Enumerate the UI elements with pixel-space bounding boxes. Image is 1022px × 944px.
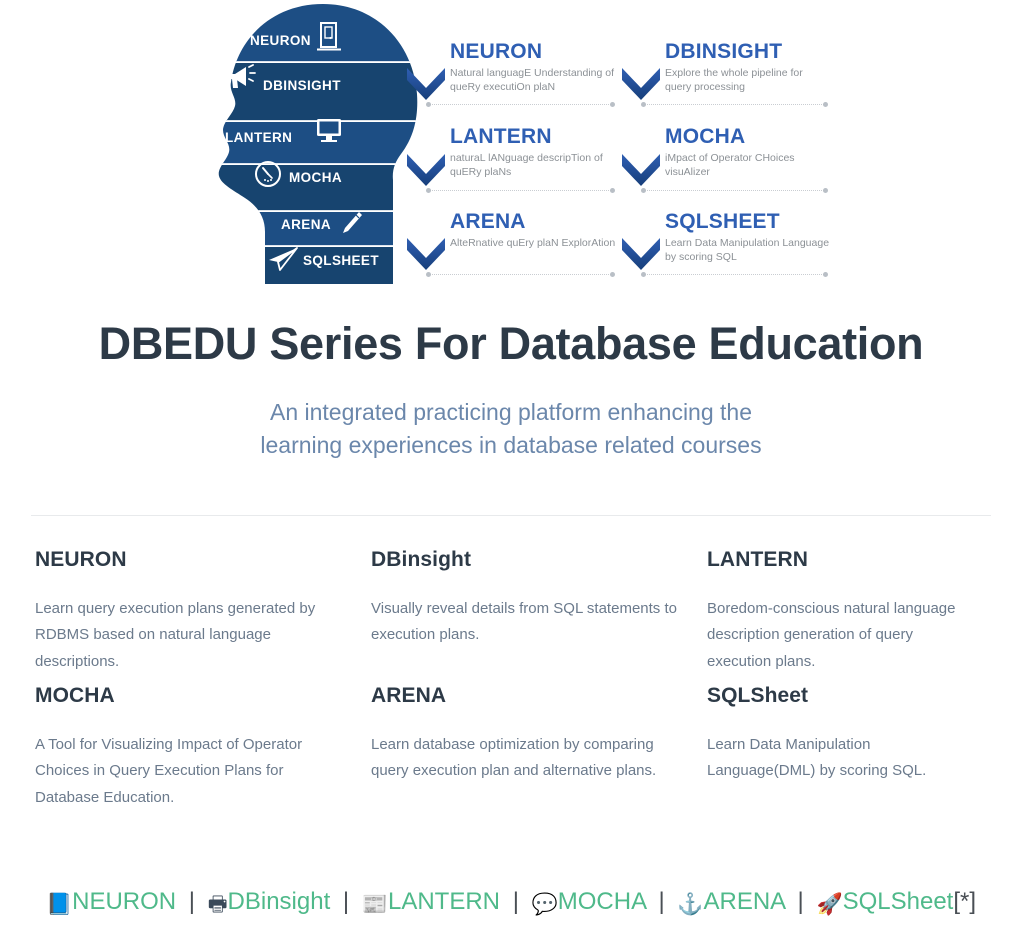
card-title: DBinsight (371, 548, 677, 572)
link-mocha[interactable]: MOCHA (558, 888, 646, 915)
card-title: MOCHA (35, 684, 341, 708)
link-separator: | (183, 888, 201, 915)
head-label-mocha: MOCHA (289, 170, 342, 185)
infographic-entry-neuron: NEURON Natural languagE Understanding of… (450, 41, 615, 95)
pencil-icon (340, 210, 364, 236)
card-desc: Learn query execution plans generated by… (35, 596, 341, 676)
entry-desc: Learn Data Manipulation Language by scor… (665, 237, 835, 265)
head-silhouette: NEURON DBINSIGHT LANTERN MOCHA ARENA SQL… (205, 2, 420, 284)
footnote-marker: [*] (953, 888, 976, 915)
connector-line (428, 190, 613, 191)
hero-section: DBEDU Series For Database Education An i… (0, 300, 1022, 463)
entry-desc: iMpact of Operator CHoices visuAlizer (665, 152, 830, 180)
entry-title: DBINSIGHT (665, 41, 830, 62)
card-desc: Learn database optimization by comparing… (371, 732, 677, 785)
link-dbinsight[interactable]: DBinsight (228, 888, 331, 915)
feature-card-dbinsight: DBinsight Visually reveal details from S… (371, 548, 707, 684)
head-label-arena: ARENA (281, 217, 331, 232)
connector-dot (823, 272, 828, 277)
card-title: ARENA (371, 684, 677, 708)
subtitle-line-1: An integrated practicing platform enhanc… (211, 396, 811, 429)
connector-dot (641, 188, 646, 193)
link-arena[interactable]: ARENA (704, 888, 785, 915)
paper-plane-icon (267, 246, 299, 272)
entry-desc: AlteRnative quEry plaN ExplorAtion (450, 237, 628, 251)
link-separator: | (337, 888, 355, 915)
infographic-entry-sqlsheet: SQLSHEET Learn Data Manipulation Languag… (665, 211, 835, 265)
subtitle-line-2: learning experiences in database related… (211, 429, 811, 462)
clock-icon (254, 160, 282, 188)
chevron-down-icon (620, 152, 662, 188)
connector-line (428, 104, 613, 105)
connector-line (643, 104, 826, 105)
head-label-neuron: NEURON (250, 33, 311, 48)
feature-card-lantern: LANTERN Boredom-conscious natural langua… (707, 548, 987, 684)
entry-title: ARENA (450, 211, 628, 232)
connector-line (428, 274, 613, 275)
infographic-banner: NEURON DBINSIGHT LANTERN MOCHA ARENA SQL… (0, 0, 1022, 300)
connector-dot (641, 272, 646, 277)
card-desc: Learn Data Manipulation Language(DML) by… (707, 732, 957, 785)
infographic-entry-arena: ARENA AlteRnative quEry plaN ExplorAtion (450, 211, 628, 251)
connector-line (643, 274, 826, 275)
chevron-down-icon (405, 236, 447, 272)
entry-title: NEURON (450, 41, 615, 62)
connector-dot (426, 188, 431, 193)
link-lantern[interactable]: LANTERN (388, 888, 500, 915)
blue-book-icon: 📘 (46, 893, 72, 916)
entry-desc: naturaL lANguage descripTion of quERy pl… (450, 152, 622, 180)
entry-title: MOCHA (665, 126, 830, 147)
chevron-down-icon (620, 66, 662, 102)
infographic-entry-mocha: MOCHA iMpact of Operator CHoices visuAli… (665, 126, 830, 180)
entry-title: LANTERN (450, 126, 622, 147)
connector-dot (610, 188, 615, 193)
connector-dot (426, 102, 431, 107)
page-subtitle: An integrated practicing platform enhanc… (211, 396, 811, 463)
infographic-entry-dbinsight: DBINSIGHT Explore the whole pipeline for… (665, 41, 830, 95)
card-desc: A Tool for Visualizing Impact of Operato… (35, 732, 341, 812)
door-icon (317, 22, 341, 52)
link-neuron[interactable]: NEURON (72, 888, 176, 915)
feature-grid: NEURON Learn query execution plans gener… (35, 516, 987, 820)
megaphone-icon (226, 64, 256, 90)
feature-card-arena: ARENA Learn database optimization by com… (371, 684, 707, 820)
connector-dot (610, 272, 615, 277)
entry-title: SQLSHEET (665, 211, 835, 232)
connector-dot (823, 188, 828, 193)
link-separator: | (507, 888, 525, 915)
card-desc: Visually reveal details from SQL stateme… (371, 596, 677, 649)
infographic-entry-lantern: LANTERN naturaL lANguage descripTion of … (450, 126, 622, 180)
head-label-dbinsight: DBINSIGHT (263, 78, 341, 93)
chevron-down-icon (405, 152, 447, 188)
card-desc: Boredom-conscious natural language descr… (707, 596, 957, 676)
feature-card-neuron: NEURON Learn query execution plans gener… (35, 548, 371, 684)
project-link-bar: 📘NEURON | 🖶DBinsight | 📰LANTERN | 💬MOCHA… (0, 888, 1022, 925)
printer-icon: 🖶 (208, 893, 228, 916)
connector-dot (823, 102, 828, 107)
connector-dot (610, 102, 615, 107)
link-sqlsheet[interactable]: SQLSheet (843, 888, 954, 915)
entry-desc: Explore the whole pipeline for query pro… (665, 67, 830, 95)
speech-balloon-icon: 💬 (532, 893, 558, 916)
newspaper-icon: 📰 (362, 893, 388, 916)
page-title: DBEDU Series For Database Education (0, 300, 1022, 370)
head-label-sqlsheet: SQLSHEET (303, 253, 379, 268)
card-title: LANTERN (707, 548, 957, 572)
connector-line (643, 190, 826, 191)
card-title: SQLSheet (707, 684, 957, 708)
link-separator: | (652, 888, 670, 915)
link-separator: | (792, 888, 810, 915)
card-title: NEURON (35, 548, 341, 572)
feature-card-sqlsheet: SQLSheet Learn Data Manipulation Languag… (707, 684, 987, 820)
feature-card-mocha: MOCHA A Tool for Visualizing Impact of O… (35, 684, 371, 820)
chevron-down-icon (405, 66, 447, 102)
connector-dot (641, 102, 646, 107)
head-label-lantern: LANTERN (225, 130, 292, 145)
rocket-icon: 🚀 (816, 893, 842, 916)
connector-dot (426, 272, 431, 277)
entry-desc: Natural languagE Understanding of queRy … (450, 67, 615, 95)
monitor-icon (315, 118, 343, 144)
anchor-icon: ⚓ (677, 893, 703, 916)
